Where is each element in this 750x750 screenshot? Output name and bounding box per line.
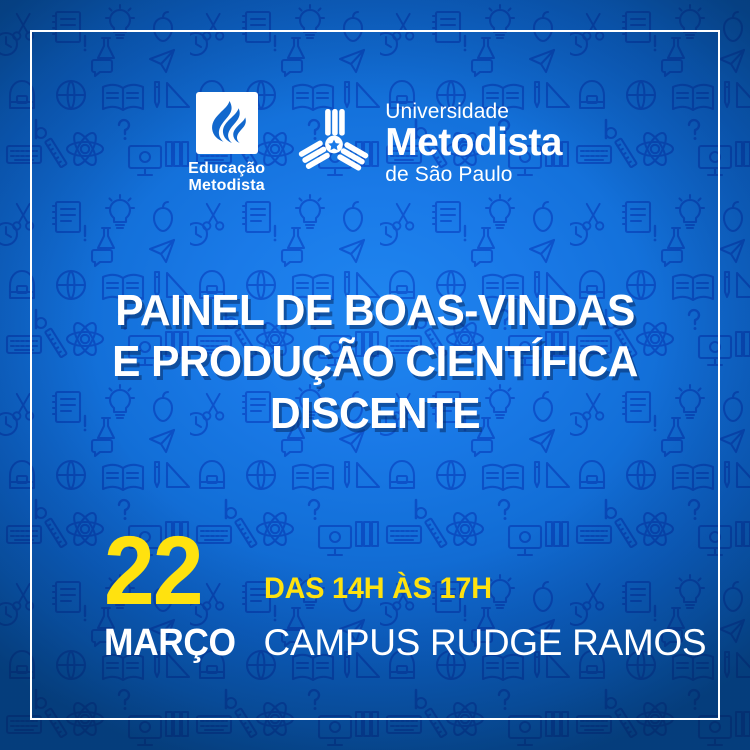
flame-mark-icon [196, 92, 258, 154]
title-line-2: E PRODUÇÃO CIENTÍFICA [54, 336, 697, 387]
universidade-metodista-wordmark: Universidade Metodista de São Paulo [385, 101, 562, 185]
universidade-line-3: de São Paulo [385, 164, 562, 185]
educacao-metodista-logo: Educação Metodista [188, 92, 265, 194]
educacao-line-1: Educação [188, 161, 265, 178]
event-day: 22 [104, 532, 202, 610]
educacao-metodista-wordmark: Educação Metodista [188, 161, 265, 194]
title-line-3: DISCENTE [54, 388, 697, 439]
title-line-1: PAINEL DE BOAS-VINDAS [54, 285, 697, 336]
universidade-metodista-logo: Universidade Metodista de São Paulo [297, 101, 562, 185]
event-date: 22 MARÇO [104, 532, 246, 662]
universidade-line-2: Metodista [385, 123, 562, 162]
universidade-line-1: Universidade [385, 101, 562, 122]
metodista-triskelion-mark-icon [297, 106, 371, 180]
logo-bar: Educação Metodista [0, 92, 750, 194]
event-details: 22 MARÇO DAS 14H ÀS 17H CAMPUS RUDGE RAM… [104, 532, 706, 662]
event-poster: Educação Metodista [0, 0, 750, 750]
event-title: PAINEL DE BOAS-VINDAS E PRODUÇÃO CIENTÍF… [54, 285, 697, 439]
educacao-line-2: Metodista [188, 178, 265, 195]
event-time-place: DAS 14H ÀS 17H CAMPUS RUDGE RAMOS [264, 574, 707, 662]
event-time: DAS 14H ÀS 17H [264, 574, 492, 604]
event-month: MARÇO [104, 624, 236, 662]
event-place: CAMPUS RUDGE RAMOS [264, 624, 707, 661]
